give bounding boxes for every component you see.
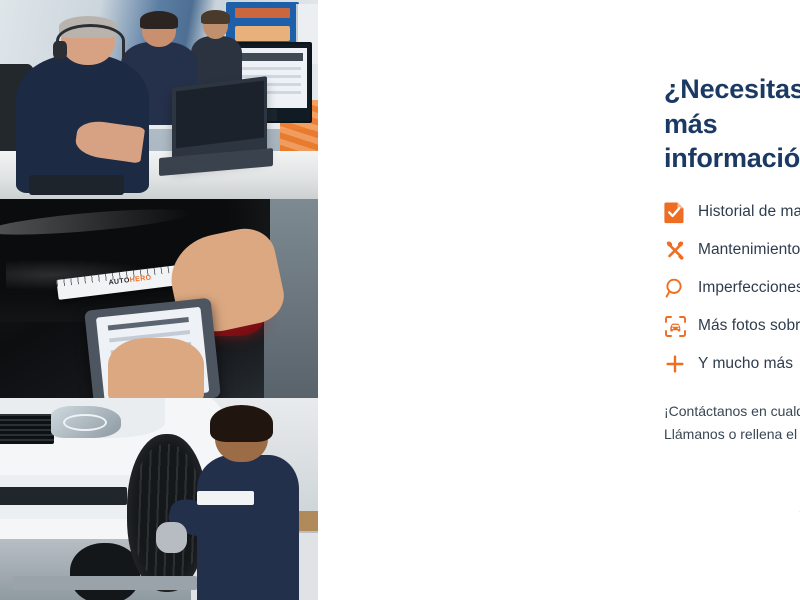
screen-row: [240, 67, 301, 70]
feature-label: Mantenimiento realizado: [698, 241, 800, 259]
wall-poster: [226, 2, 299, 46]
desk-tablet: [29, 175, 124, 195]
contact-line-2: Llámanos o rellena el formulario de cont…: [664, 423, 800, 446]
contact-text: ¡Contáctanos en cualquier momento para m…: [664, 400, 800, 445]
feature-list: Historial de mantenimientos Mantenimient…: [664, 193, 800, 383]
car-rear-tyre: [70, 543, 140, 600]
feature-item-more-photos: Más fotos sobre el coche: [664, 307, 800, 345]
mechanic-hair: [210, 405, 273, 442]
agent-foreground: [16, 54, 150, 193]
document-check-icon: [664, 200, 685, 224]
agent-hair: [140, 11, 178, 29]
car-inspection-ruler-photo: AUTOHERO: [0, 199, 318, 398]
info-banner: AUTOHERO: [0, 0, 800, 600]
plus-icon: [664, 353, 686, 375]
feature-item-imperfections: Imperfecciones: [664, 269, 800, 307]
magnifier-icon: [664, 277, 686, 299]
mechanic-wheel-inspection-photo: [0, 398, 318, 600]
feature-item-maintenance-done: Mantenimiento realizado: [664, 231, 800, 269]
car-headlight: [51, 406, 121, 438]
photo-column: AUTOHERO: [0, 0, 318, 600]
feature-item-much-more: Y mucho más: [664, 345, 800, 383]
car-air-intake: [0, 487, 127, 505]
feature-icon-wrap: [664, 353, 698, 375]
mechanic-glove: [156, 522, 187, 553]
feature-label: Más fotos sobre el coche: [698, 317, 800, 335]
page-title-line-2: más información?: [664, 107, 800, 176]
mechanic: [197, 455, 299, 600]
content-panel: ¿Necesitas más información? Estamos enca…: [318, 0, 800, 600]
tablet-row: [108, 317, 189, 331]
feature-label: Historial de mantenimientos: [698, 203, 800, 221]
agent-headset-earcup: [53, 41, 66, 59]
mechanic-uniform-logo: [197, 491, 254, 505]
brand-text-auto: AUTO: [109, 277, 131, 287]
car-grille: [0, 414, 54, 444]
inspector-hand-lower: [108, 338, 203, 398]
agent-hair: [201, 10, 229, 24]
feature-item-maintenance-history: Historial de mantenimientos: [664, 193, 800, 231]
call-center-agents-photo: [0, 0, 318, 199]
page-title-line-1: ¿Necesitas: [664, 72, 800, 107]
agent-arm: [74, 119, 145, 164]
feature-icon-wrap: [664, 200, 698, 224]
car-lift-platform: [13, 576, 197, 590]
feature-icon-wrap: [664, 239, 698, 261]
car-photo-frame-icon: [664, 315, 687, 338]
feature-icon-wrap: [664, 315, 698, 338]
tools-icon: [664, 239, 686, 261]
page-title: ¿Necesitas más información?: [664, 72, 800, 176]
feature-label: Imperfecciones: [698, 279, 800, 297]
laptop-screen: [176, 80, 264, 148]
contact-line-1: ¡Contáctanos en cualquier momento para m…: [664, 400, 800, 423]
feature-icon-wrap: [664, 277, 698, 299]
feature-label: Y mucho más: [698, 355, 793, 373]
screen-header-bar: [239, 53, 303, 61]
